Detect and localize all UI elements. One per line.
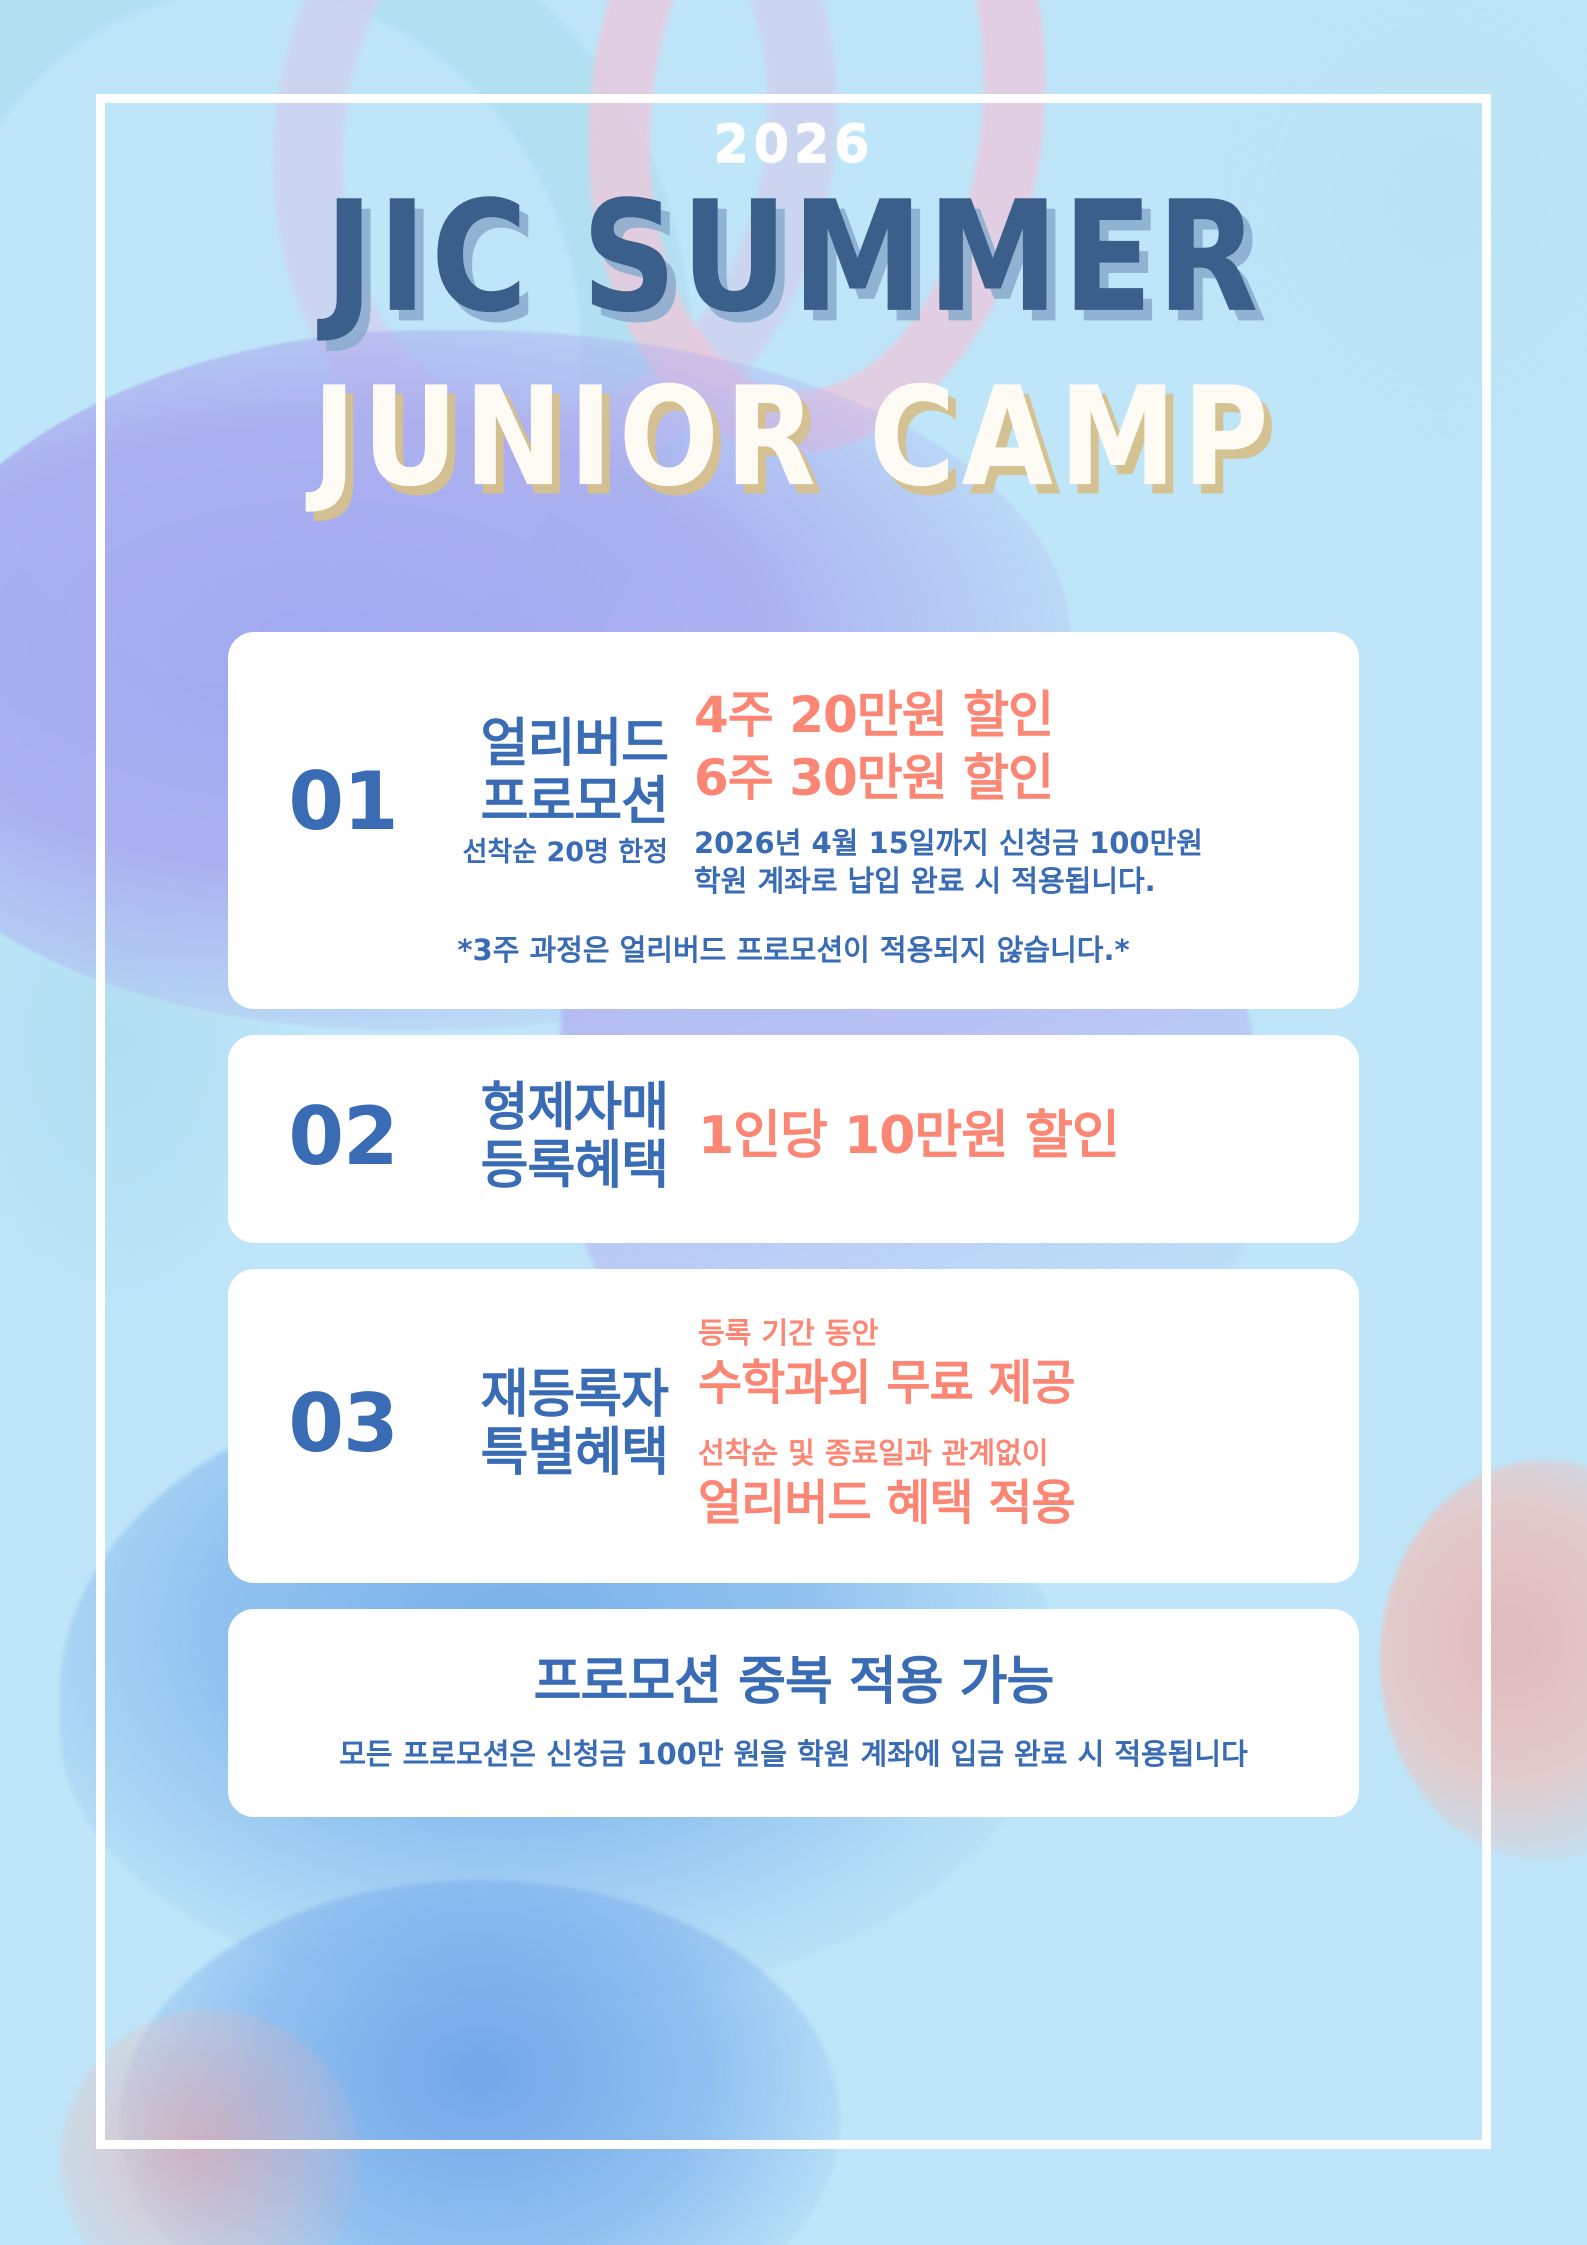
card-03-value-column: 등록 기간 동안 수학과외 무료 제공 선착순 및 종료일과 관계없이 얼리버드…	[668, 1315, 1319, 1533]
footer-card-note: 모든 프로모션은 신청금 100만 원을 학원 계좌에 입금 완료 시 적용됩니…	[268, 1731, 1319, 1773]
promotion-card-01: 01 얼리버드 프로모션 선착순 20명 한정 4주 20만원 할인 6주 30…	[228, 632, 1359, 1009]
card-01-note: *3주 과정은 얼리버드 프로모션이 적용되지 않습니다.*	[268, 927, 1319, 969]
promotion-card-list: 01 얼리버드 프로모션 선착순 20명 한정 4주 20만원 할인 6주 30…	[228, 632, 1359, 1843]
card-01-number: 01	[268, 762, 418, 842]
card-03-benefit-group-1: 등록 기간 동안 수학과외 무료 제공	[698, 1315, 1319, 1413]
card-03-benefit-1-title: 수학과외 무료 제공	[698, 1353, 1319, 1413]
promotion-footer-card: 프로모션 중복 적용 가능 모든 프로모션은 신청금 100만 원을 학원 계좌…	[228, 1609, 1359, 1817]
card-01-value-small-line1: 2026년 4월 15일까지 신청금 100만원	[694, 824, 1319, 862]
card-02-label-line1: 형제자매	[418, 1079, 668, 1137]
watercolor-blue-bottom	[120, 1880, 840, 2245]
card-03-benefit-1-caption: 등록 기간 동안	[698, 1315, 1319, 1353]
card-01-spacer	[268, 901, 1319, 927]
card-03-label-line1: 재등록자	[418, 1366, 668, 1424]
card-02-number: 02	[268, 1097, 418, 1177]
card-01-value-big-line1: 4주 20만원 할인	[694, 684, 1319, 747]
card-01-label-column: 얼리버드 프로모션 선착순 20명 한정	[418, 715, 668, 870]
card-03-number: 03	[268, 1384, 418, 1464]
card-03-benefit-group-2: 선착순 및 종료일과 관계없이 얼리버드 혜택 적용	[698, 1435, 1319, 1533]
watercolor-pink-bottom-left	[60, 2010, 360, 2245]
card-02-value-column: 1인당 10만원 할인	[668, 1104, 1319, 1170]
watercolor-pink-right	[1380, 1460, 1587, 1860]
card-01-label-line2: 프로모션	[418, 773, 668, 831]
poster-title-main: JIC SUMMER	[0, 180, 1587, 336]
card-03-label-line2: 특별혜택	[418, 1424, 668, 1482]
card-02-value-big: 1인당 10만원 할인	[698, 1104, 1319, 1170]
card-02-label-line2: 등록혜택	[418, 1137, 668, 1195]
card-03-benefit-2-title: 얼리버드 혜택 적용	[698, 1473, 1319, 1533]
card-01-value-small-line2: 학원 계좌로 납입 완료 시 적용됩니다.	[694, 862, 1319, 900]
card-03-label-column: 재등록자 특별혜택	[418, 1366, 668, 1482]
card-01-value-big-line2: 6주 30만원 할인	[694, 747, 1319, 810]
poster-title-sub: JUNIOR CAMP	[0, 367, 1587, 507]
card-01-value-column: 4주 20만원 할인 6주 30만원 할인 2026년 4월 15일까지 신청금…	[668, 684, 1319, 901]
card-01-label-sub: 선착순 20명 한정	[418, 837, 668, 869]
card-02-label-column: 형제자매 등록혜택	[418, 1079, 668, 1195]
poster-year: 2026	[0, 118, 1587, 170]
footer-card-title: 프로모션 중복 적용 가능	[268, 1653, 1319, 1713]
promotion-card-03: 03 재등록자 특별혜택 등록 기간 동안 수학과외 무료 제공 선착순 및 종…	[228, 1269, 1359, 1583]
promotion-card-02: 02 형제자매 등록혜택 1인당 10만원 할인	[228, 1035, 1359, 1243]
card-02-row: 02 형제자매 등록혜택 1인당 10만원 할인	[268, 1079, 1319, 1195]
poster-title-block: 2026 JIC SUMMER JUNIOR CAMP	[0, 118, 1587, 487]
card-03-benefit-2-caption: 선착순 및 종료일과 관계없이	[698, 1435, 1319, 1473]
card-03-row: 03 재등록자 특별혜택 등록 기간 동안 수학과외 무료 제공 선착순 및 종…	[268, 1315, 1319, 1533]
card-01-row: 01 얼리버드 프로모션 선착순 20명 한정 4주 20만원 할인 6주 30…	[268, 684, 1319, 901]
card-01-label-line1: 얼리버드	[418, 715, 668, 773]
